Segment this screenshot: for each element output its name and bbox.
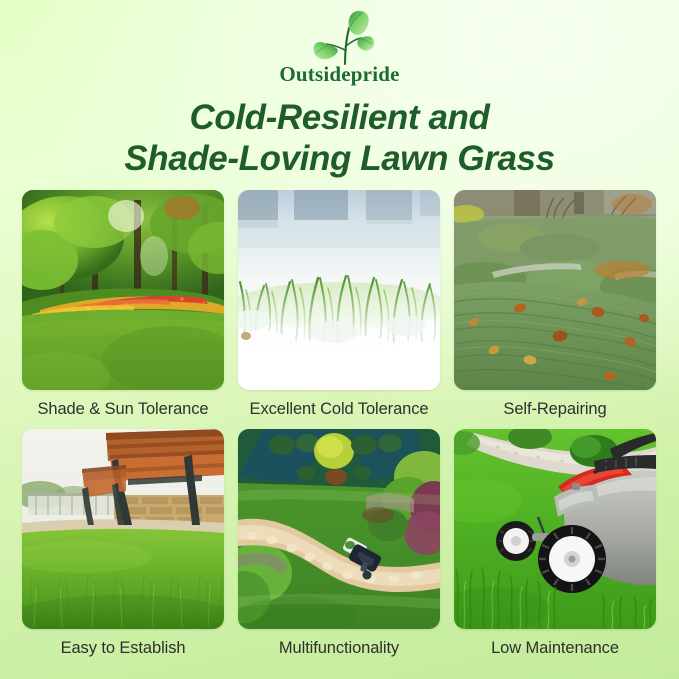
feature-caption-easy-to-establish: Easy to Establish: [22, 629, 224, 658]
feature-card-shade-sun-tolerance: Shade & Sun Tolerance: [22, 190, 224, 419]
feature-image-low-maintenance: [454, 429, 656, 629]
page-title: Cold-Resilient and Shade-Loving Lawn Gra…: [0, 97, 679, 180]
feature-grid: Shade & Sun Tolerance: [22, 190, 657, 658]
feature-image-multifunctionality: [238, 429, 440, 629]
headline-line-2: Shade-Loving Lawn Grass: [30, 138, 649, 179]
feature-image-shade-sun-tolerance: [22, 190, 224, 390]
feature-image-self-repairing: [454, 190, 656, 390]
header: Outsidepride Cold-Resilient and Shade-Lo…: [0, 0, 679, 180]
feature-caption-excellent-cold-tolerance: Excellent Cold Tolerance: [238, 390, 440, 419]
feature-card-low-maintenance: Low Maintenance: [454, 429, 656, 658]
feature-card-excellent-cold-tolerance: Excellent Cold Tolerance: [238, 190, 440, 419]
headline-line-1: Cold-Resilient and: [189, 98, 489, 137]
feature-caption-shade-sun-tolerance: Shade & Sun Tolerance: [22, 390, 224, 419]
brand-logo: Outsidepride: [0, 8, 679, 85]
feature-caption-self-repairing: Self-Repairing: [454, 390, 656, 419]
feature-caption-multifunctionality: Multifunctionality: [238, 629, 440, 658]
leaf-sprout-icon: [301, 8, 379, 68]
feature-caption-low-maintenance: Low Maintenance: [454, 629, 656, 658]
feature-image-excellent-cold-tolerance: [238, 190, 440, 390]
feature-image-easy-to-establish: [22, 429, 224, 629]
feature-card-self-repairing: Self-Repairing: [454, 190, 656, 419]
feature-card-multifunctionality: Multifunctionality: [238, 429, 440, 658]
feature-card-easy-to-establish: Easy to Establish: [22, 429, 224, 658]
brand-wordmark: Outsidepride: [279, 64, 399, 85]
promo-graphic: Outsidepride Cold-Resilient and Shade-Lo…: [0, 0, 679, 679]
